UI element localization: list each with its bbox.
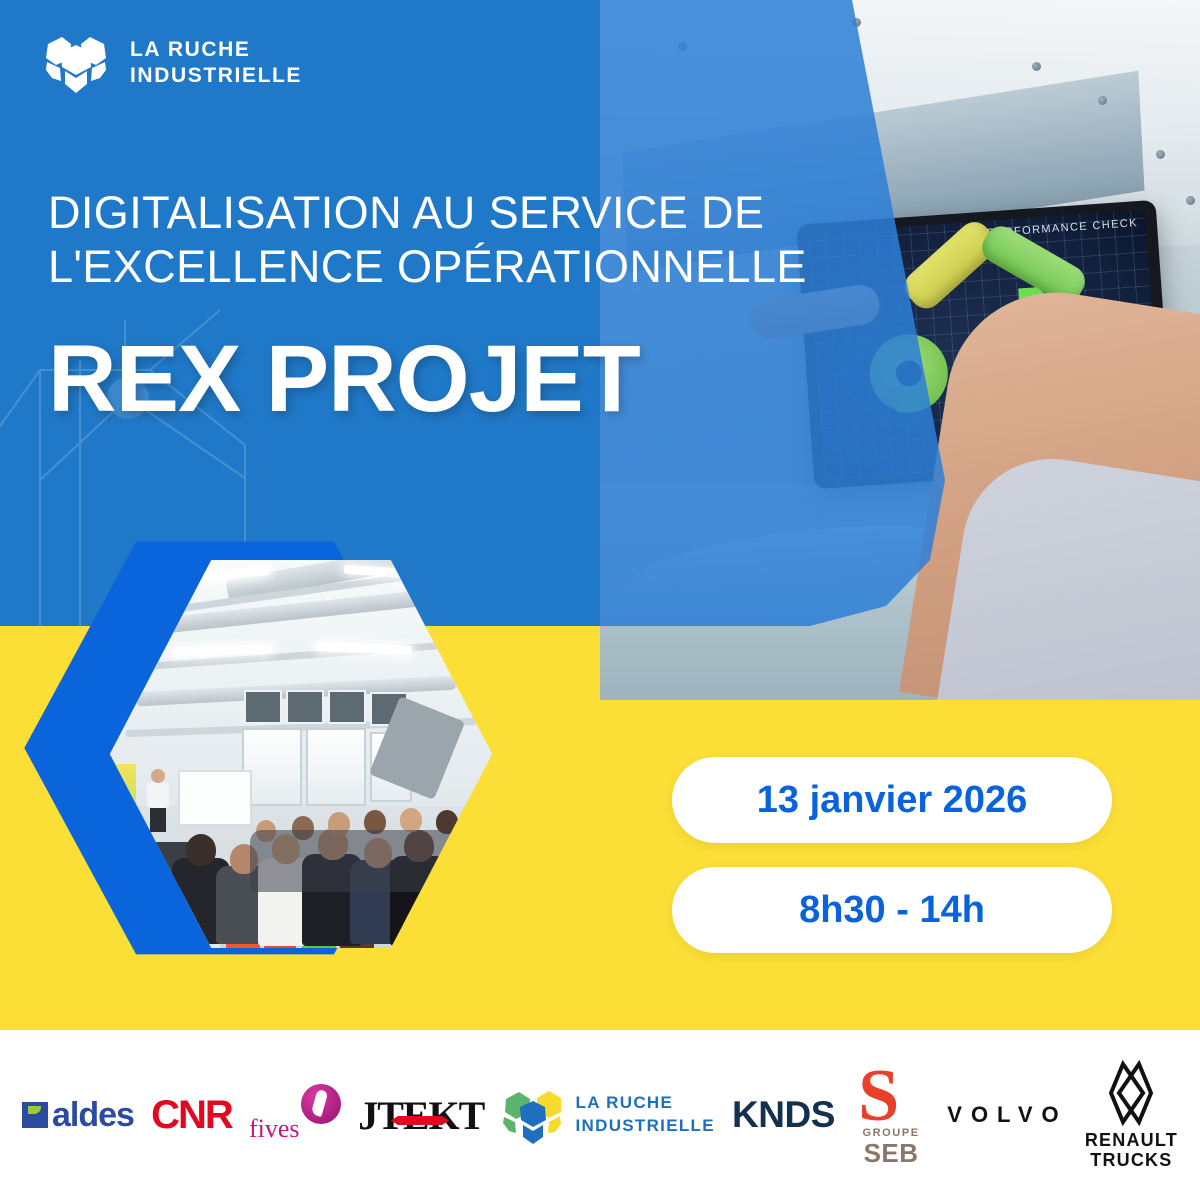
- logo-la-ruche-industrielle[interactable]: LA RUCHE INDUSTRIELLE: [502, 1085, 715, 1145]
- renault-label-line-2: TRUCKS: [1085, 1150, 1178, 1170]
- seb-s-icon: S: [858, 1065, 924, 1131]
- subtitle-line-2: L'EXCELLENCE OPÉRATIONNELLE: [48, 240, 858, 294]
- brand-text: LA RUCHE INDUSTRIELLE: [130, 37, 302, 88]
- cnr-label: CNR: [151, 1093, 232, 1138]
- aldes-square-icon: [22, 1102, 48, 1128]
- ruche-label-line-2: INDUSTRIELLE: [576, 1115, 715, 1138]
- event-poster: PERFORMANCE CHECK: [0, 0, 1200, 1200]
- subtitle-line-1: DIGITALISATION AU SERVICE DE: [48, 186, 858, 240]
- poster-main-title: REX PROJET: [48, 332, 640, 427]
- brand-logo[interactable]: LA RUCHE INDUSTRIELLE: [40, 28, 302, 98]
- ruche-label: LA RUCHE INDUSTRIELLE: [576, 1092, 715, 1138]
- logo-jtekt[interactable]: JTEKT: [358, 1092, 484, 1139]
- brand-line-1: LA RUCHE: [130, 37, 302, 63]
- logo-knds[interactable]: KNDS: [732, 1094, 835, 1136]
- renault-label-line-1: RENAULT: [1085, 1130, 1178, 1150]
- ruche-hex-icon: [502, 1085, 564, 1145]
- partner-logo-bar: aldes CNR fives JTEKT: [0, 1030, 1200, 1200]
- poster-subtitle: DIGITALISATION AU SERVICE DE L'EXCELLENC…: [48, 186, 858, 293]
- ruche-label-line-1: LA RUCHE: [576, 1092, 715, 1115]
- logo-groupe-seb[interactable]: S GROUPE SEB: [852, 1065, 930, 1165]
- knds-label: KNDS: [732, 1094, 835, 1136]
- renault-diamond-icon: [1103, 1060, 1159, 1126]
- fives-sphere-icon: [301, 1084, 341, 1124]
- jtekt-diamond-icon: [391, 1116, 449, 1125]
- logo-fives[interactable]: fives: [249, 1084, 341, 1146]
- logo-renault-trucks[interactable]: RENAULT TRUCKS: [1085, 1060, 1178, 1170]
- renault-label: RENAULT TRUCKS: [1085, 1130, 1178, 1170]
- event-date-text: 13 janvier 2026: [757, 779, 1027, 822]
- event-date-pill: 13 janvier 2026: [672, 757, 1112, 843]
- seb-label-line-2: SEB: [852, 1138, 930, 1169]
- fives-label: fives: [249, 1114, 300, 1144]
- volvo-label: VOLVO: [947, 1102, 1067, 1128]
- logo-cnr[interactable]: CNR: [151, 1093, 232, 1138]
- brand-line-2: INDUSTRIELLE: [130, 63, 302, 89]
- event-time-text: 8h30 - 14h: [799, 889, 985, 932]
- aldes-label: aldes: [52, 1096, 134, 1135]
- jtekt-label: JTEKT: [358, 1092, 484, 1139]
- honeycomb-hex-icon: [40, 28, 112, 98]
- event-time-pill: 8h30 - 14h: [672, 867, 1112, 953]
- logo-volvo[interactable]: VOLVO: [947, 1102, 1067, 1128]
- logo-aldes[interactable]: aldes: [22, 1096, 134, 1135]
